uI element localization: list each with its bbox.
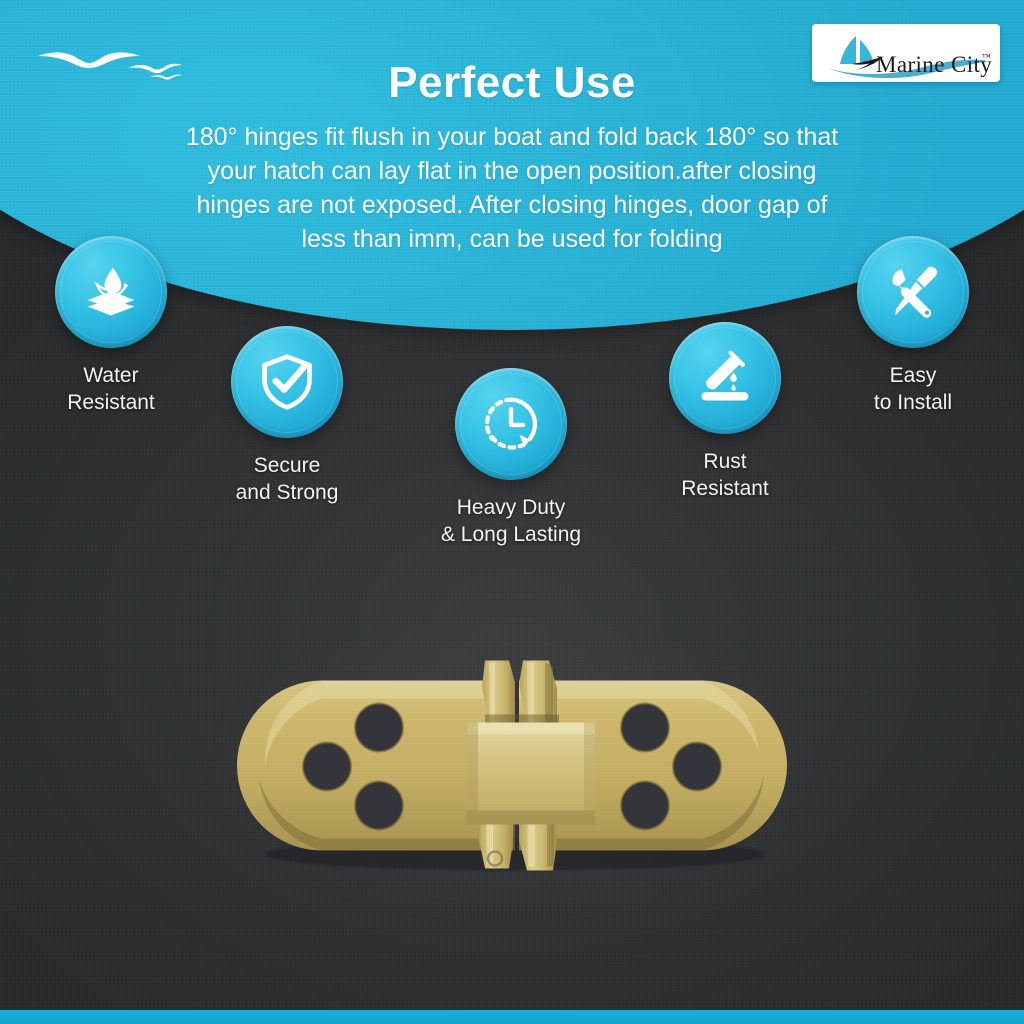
hero-description-line: your hatch can lay flat in the open posi… — [96, 154, 928, 188]
feature-rust-resistant: Rust Resistant — [620, 322, 830, 502]
feature-badge-circle — [669, 322, 781, 434]
feature-label-line: to Install — [808, 389, 1018, 416]
feature-label-line: Secure — [182, 452, 392, 479]
feature-label: Secure and Strong — [182, 452, 392, 506]
hero-description-line: 180° hinges fit flush in your boat and f… — [96, 120, 928, 154]
water-drop-layers-icon — [81, 262, 141, 322]
feature-easy-to-install: Easy to Install — [808, 236, 1018, 416]
product-infographic: Marine City ™ Perfect Use 180° hinges fi… — [0, 0, 1024, 1024]
test-tube-drip-icon — [695, 348, 755, 408]
clock-arrow-icon — [481, 394, 541, 454]
feature-label-line: Heavy Duty — [406, 494, 616, 521]
hinge-center-plate — [467, 723, 595, 825]
feature-label: Rust Resistant — [620, 448, 830, 502]
feature-label-line: Resistant — [620, 475, 830, 502]
wrench-screwdriver-icon — [883, 262, 943, 322]
feature-badge-circle — [455, 368, 567, 480]
hero-description-line: hinges are not exposed. After closing hi… — [96, 188, 928, 222]
product-image-area — [0, 560, 1024, 980]
feature-badge-circle — [857, 236, 969, 348]
feature-label-line: Rust — [620, 448, 830, 475]
hero-description: 180° hinges fit flush in your boat and f… — [96, 120, 928, 256]
product-hinge-image — [227, 643, 797, 898]
feature-badge-circle — [55, 236, 167, 348]
bottom-accent-strip — [0, 1010, 1024, 1024]
feature-badge-circle — [231, 326, 343, 438]
feature-label-line: & Long Lasting — [406, 521, 616, 548]
feature-label-line: and Strong — [182, 479, 392, 506]
page-title: Perfect Use — [0, 58, 1024, 108]
feature-label-line: Easy — [808, 362, 1018, 389]
feature-heavy-duty: Heavy Duty & Long Lasting — [406, 368, 616, 548]
feature-secure-and-strong: Secure and Strong — [182, 326, 392, 506]
hero-description-line: less than imm, can be used for folding — [96, 222, 928, 256]
shield-check-icon — [257, 352, 317, 412]
feature-label: Heavy Duty & Long Lasting — [406, 494, 616, 548]
feature-label: Easy to Install — [808, 362, 1018, 416]
